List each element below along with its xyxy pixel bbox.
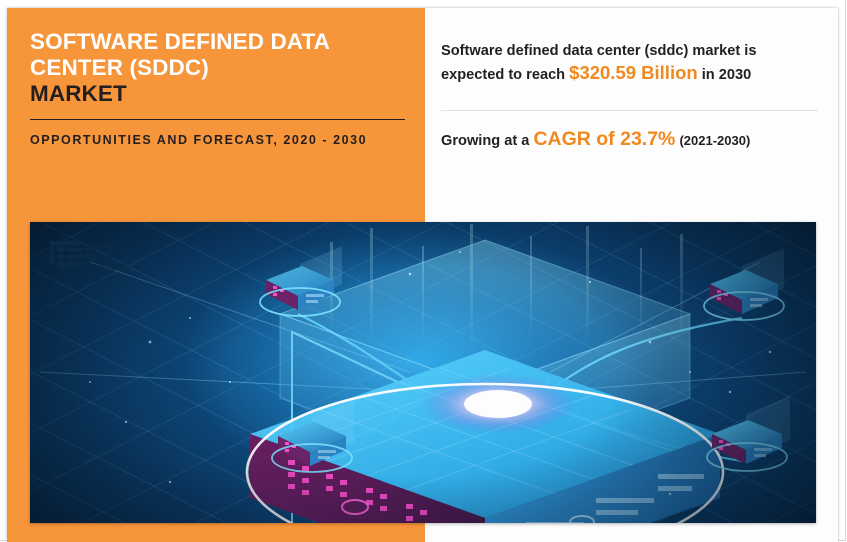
title-line-3: MARKET <box>30 81 408 107</box>
title-line-2: CENTER (SDDC) <box>30 55 408 81</box>
hero-illustration <box>30 222 816 523</box>
headline-text: Software defined data center (sddc) mark… <box>441 40 819 86</box>
logo-line-1: Allied <box>85 243 109 253</box>
market-value: $320.59 Billion <box>569 62 698 83</box>
stats-divider <box>441 110 818 111</box>
cagr-statement: Growing at a CAGR of 23.7% (2021-2030) <box>441 129 819 151</box>
headline-suffix: in 2030 <box>698 67 752 83</box>
logo-line-2: Market <box>85 252 114 262</box>
cagr-years: (2021-2030) <box>679 133 750 148</box>
growth-prefix: Growing at a <box>441 133 533 149</box>
title-divider <box>30 119 405 120</box>
hero-vignette <box>30 222 816 523</box>
market-value-statement: Software defined data center (sddc) mark… <box>441 40 819 86</box>
allied-market-research-logo: Allied Market Research <box>48 239 130 277</box>
logo-line-3: Research <box>90 262 130 272</box>
subtitle: OPPORTUNITIES AND FORECAST, 2020 - 2030 <box>30 131 408 150</box>
cagr-value: CAGR of 23.7% <box>533 128 675 150</box>
title-line-1: SOFTWARE DEFINED DATA <box>30 29 408 55</box>
infographic-page: SOFTWARE DEFINED DATA CENTER (SDDC) MARK… <box>0 0 847 542</box>
page-title: SOFTWARE DEFINED DATA CENTER (SDDC) MARK… <box>30 29 408 107</box>
